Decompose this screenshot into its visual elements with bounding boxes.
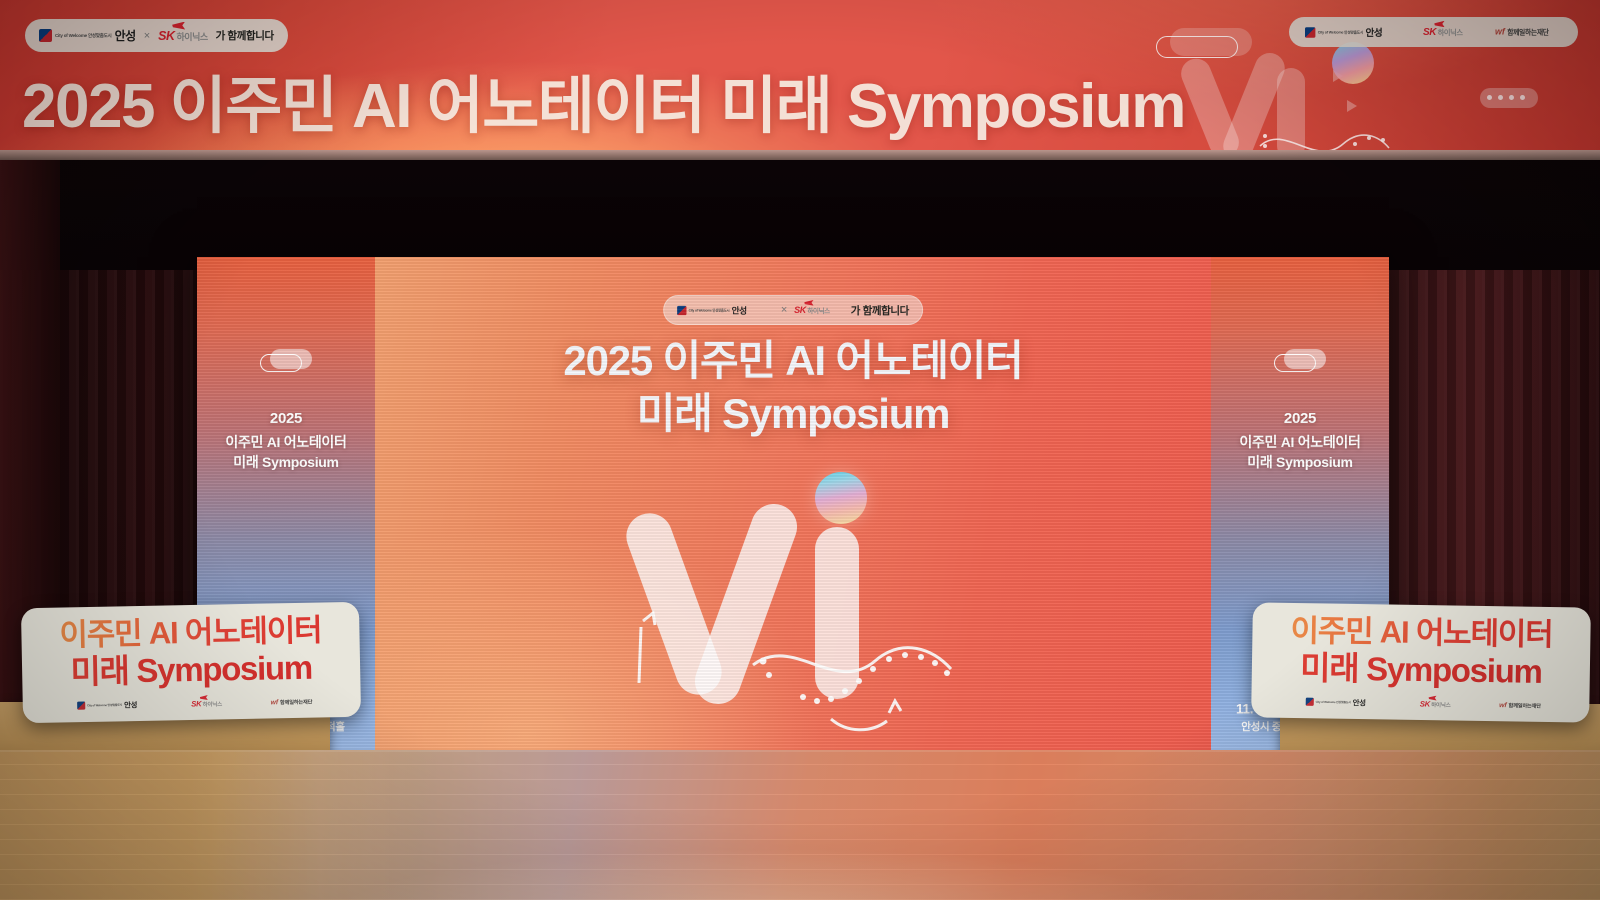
decorative-dots [1484,93,1534,103]
ansung-logo-icon: City of Welcome 안성맞춤도시 안성 [677,304,747,316]
side-panel-title: 2025 이주민 AI 어노테이터 미래 Symposium [197,408,375,472]
sk-hynix-logo-icon: SK 하이닉스 [1420,700,1451,709]
badge-tail-text: 가 함께합니다 [851,303,909,318]
standee-title-line1: 이주민 AI 어노테이터 [37,614,344,652]
led-partner-badge: City of Welcome 안성맞춤도시 안성 × SK 하이닉스 가 함께… [663,295,923,325]
badge-tail-text: 가 함께합니다 [216,28,274,43]
decorative-pill-shape [1156,28,1252,58]
wf-logo-text: 함께일하는재단 [1508,702,1540,710]
side-panel-title-line1: 이주민 AI 어노테이터 [1239,434,1360,450]
sk-hynix-logo-icon: SK 하이닉스 [191,699,222,708]
ansung-logo-subtext: City of Welcome 안성맞춤도시 [1317,30,1362,34]
hynix-logo-text: 하이닉스 [808,306,830,315]
ansung-mark-icon [677,305,686,314]
led-title-line1: 2025 이주민 AI 어노테이터 [375,335,1211,388]
ansung-mark-icon [39,29,52,42]
sk-logo-text: SK [191,699,201,708]
work-together-foundation-logo-icon: wf 함께일하는재단 [270,698,312,706]
banner-partner-badge: City of Welcome 안성맞춤도시 안성 × SK 하이닉스 가 함께… [25,19,288,52]
wf-mark-icon: wf [1499,702,1507,710]
led-title-line2: 미래 Symposium [375,388,1211,441]
wf-mark-icon: wf [1495,27,1505,37]
decorative-pill-shape [1274,349,1326,371]
ansung-logo-name: 안성 [1353,698,1366,709]
hynix-logo-text: 하이닉스 [177,30,208,43]
ansung-logo-name: 안성 [732,304,747,316]
standee-title-line1: 이주민 AI 어노테이터 [1268,615,1574,652]
side-panel-year: 2025 [197,408,375,430]
ai-logo-mark-icon [603,469,983,739]
ansung-mark-icon [77,702,85,710]
decorative-pill-shape [260,349,312,371]
top-banner: City of Welcome 안성맞춤도시 안성 × SK 하이닉스 가 함께… [0,0,1600,160]
sk-logo-text: SK [158,29,174,43]
banner-sponsor-logos: City of Welcome 안성맞춤도시 안성 SK 하이닉스 wf 함께일… [1289,17,1578,47]
sk-logo-text: SK [1423,26,1436,37]
ansung-logo-icon: City of Welcome 안성맞춤도시 안성 [39,27,136,44]
ansung-logo-icon: City of Welcome 안성맞춤도시 안성 [77,700,137,712]
standee-sign-right: 이주민 AI 어노테이터 미래 Symposium City of Welcom… [1251,603,1591,723]
led-center-content: City of Welcome 안성맞춤도시 안성 × SK 하이닉스 가 함께… [375,257,1211,760]
side-panel-title-line1: 이주민 AI 어노테이터 [225,434,346,450]
badge-x-separator: × [144,30,150,42]
hynix-logo-text: 하이닉스 [203,700,222,708]
ansung-logo-subtext: City of Welcome 안성맞춤도시 [689,308,730,312]
hynix-logo-text: 하이닉스 [1431,700,1450,708]
stage-floor-highlight [0,750,1600,900]
ansung-logo-subtext: City of Welcome 안성맞춤도시 [87,704,122,708]
sk-logo-text: SK [1420,700,1430,709]
standee-sponsor-logos: City of Welcome 안성맞춤도시 안성 SK 하이닉스 wf 함께일… [39,693,345,715]
gradient-dot-icon [1332,42,1374,84]
side-panel-title-line2: 미래 Symposium [1247,454,1352,470]
standee-sponsor-logos: City of Welcome 안성맞춤도시 안성 SK 하이닉스 wf 함께일… [1267,694,1573,715]
wf-logo-text: 함께일하는재단 [1507,27,1549,37]
ansung-logo-subtext: City of Welcome 안성맞춤도시 [1316,701,1351,705]
sk-hynix-logo-icon: SK 하이닉스 [1423,26,1463,37]
led-main-title: 2025 이주민 AI 어노테이터 미래 Symposium [375,335,1211,440]
work-together-foundation-logo-icon: wf 함께일하는재단 [1499,702,1541,710]
hynix-logo-text: 하이닉스 [1438,27,1463,37]
ai-gradient-dot-icon [815,472,867,524]
side-panel-title: 2025 이주민 AI 어노테이터 미래 Symposium [1211,408,1389,472]
ansung-mark-icon [1306,698,1314,706]
led-screen: 2025 이주민 AI 어노테이터 미래 Symposium 11. 25.(화… [197,257,1389,760]
wf-mark-icon: wf [270,699,278,707]
stage-photo: City of Welcome 안성맞춤도시 안성 × SK 하이닉스 가 함께… [0,0,1600,900]
side-panel-title-line2: 미래 Symposium [233,454,338,470]
standee-title-line2: 미래 Symposium [38,649,345,691]
wf-logo-text: 함께일하는재단 [279,698,311,706]
ansung-logo-name: 안성 [124,700,137,711]
stage-ceiling-shadow [0,160,1600,270]
ansung-mark-icon [1305,27,1315,37]
ansung-logo-icon: City of Welcome 안성맞춤도시 안성 [1306,697,1366,708]
sk-hynix-logo-icon: SK 하이닉스 [794,305,830,315]
banner-title: 2025 이주민 AI 어노테이터 미래 Symposium [22,55,1202,145]
standee-sign-left: 이주민 AI 어노테이터 미래 Symposium City of Welcom… [21,602,361,723]
work-together-foundation-logo-icon: wf 함께일하는재단 [1495,27,1549,37]
standee-title-line2: 미래 Symposium [1268,649,1575,690]
ansung-logo-name: 안성 [115,27,136,44]
sk-logo-text: SK [794,305,806,315]
badge-x-separator: × [781,304,787,316]
ansung-logo-icon: City of Welcome 안성맞춤도시 안성 [1305,25,1382,39]
ansung-logo-name: 안성 [1365,25,1382,39]
side-panel-year: 2025 [1211,408,1389,430]
ansung-logo-subtext: City of Welcome 안성맞춤도시 [55,33,112,38]
sk-hynix-logo-icon: SK 하이닉스 [158,29,208,43]
